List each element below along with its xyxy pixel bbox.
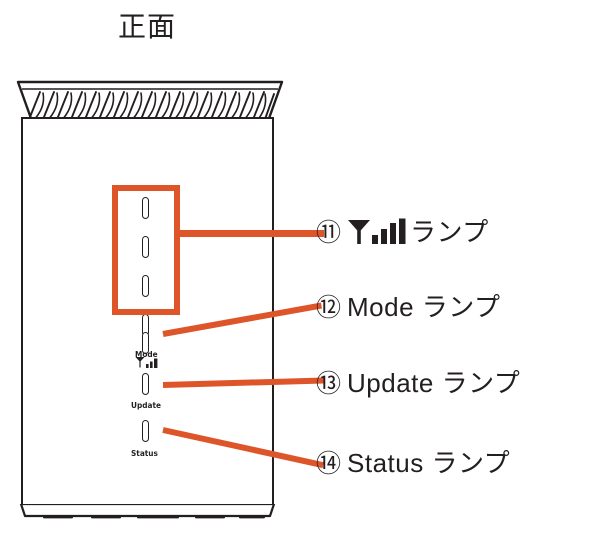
callout-14-number: ⑭ — [316, 451, 341, 476]
callout-13: ⑬ Update ランプ — [316, 370, 520, 396]
callout-12-number: ⑫ — [316, 295, 341, 320]
status-led — [142, 420, 149, 442]
device-base — [17, 504, 278, 520]
page-title: 正面 — [118, 8, 176, 46]
callout-13-label: Update ランプ — [347, 370, 520, 396]
status-led-caption: Status — [131, 449, 158, 458]
callout-12-label: Mode ランプ — [347, 294, 500, 320]
mode-led-caption: Mode — [135, 350, 158, 359]
callout-11-label: ランプ — [410, 219, 489, 245]
callout-14: ⑭ Status ランプ — [316, 450, 510, 476]
diagram-page: 正面 — [0, 0, 600, 550]
callout-14-label: Status ランプ — [347, 450, 510, 476]
signal-strength-icon — [347, 218, 409, 246]
callout-12: ⑫ Mode ランプ — [316, 294, 501, 320]
update-led — [142, 373, 149, 395]
callout-11-number: ⑪ — [316, 220, 341, 245]
leader-line-11 — [176, 230, 324, 237]
signal-lamp-group-highlight — [112, 185, 180, 315]
update-led-caption: Update — [131, 401, 161, 410]
callout-11: ⑪ ランプ — [316, 218, 489, 246]
callout-13-number: ⑬ — [316, 371, 341, 396]
